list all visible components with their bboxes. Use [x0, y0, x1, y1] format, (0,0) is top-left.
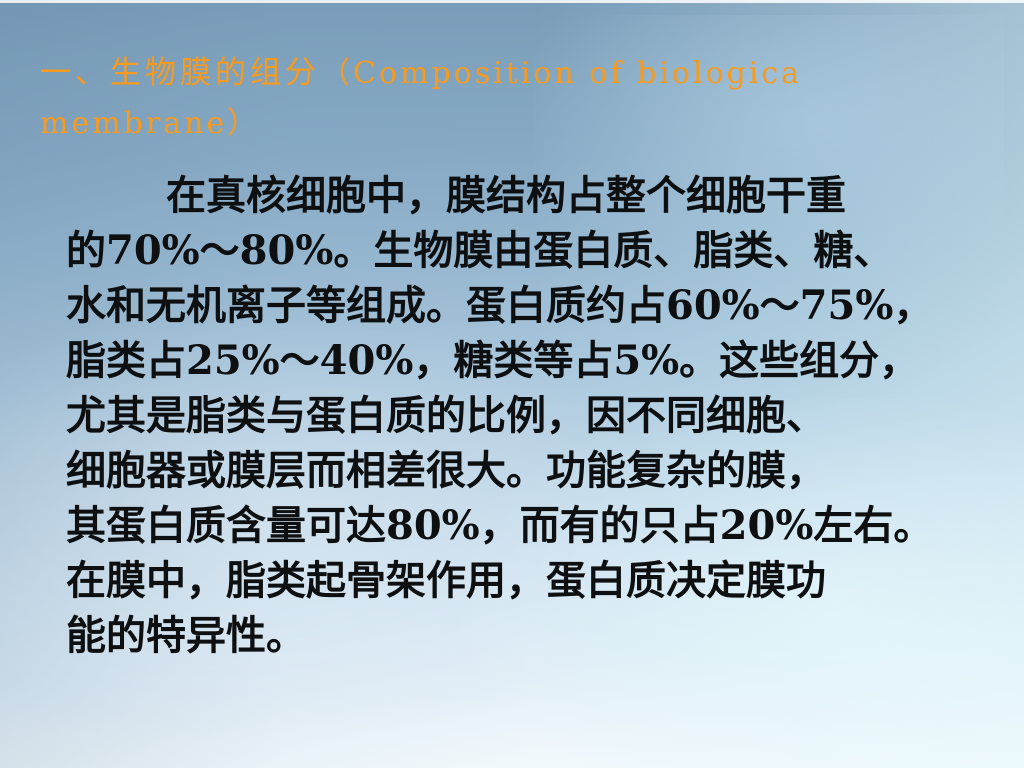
slide-title: 一、生物膜的组分（Composition of biologica membra… — [40, 50, 1024, 151]
body-text-line: 能的特异性。 — [66, 608, 986, 663]
body-text-line: 其蛋白质含量可达80%，而有的只占20%左右。 — [66, 498, 986, 553]
title-english-text-part1: （Composition of biologica — [320, 56, 802, 91]
slide-canvas: 一、生物膜的组分（Composition of biologica membra… — [0, 0, 1024, 768]
body-text-line: 在膜中，脂类起骨架作用，蛋白质决定膜功 — [66, 553, 986, 608]
body-text-line: 脂类占25%～40%，糖类等占5%。这些组分， — [66, 333, 986, 388]
body-text-line: 细胞器或膜层而相差很大。功能复杂的膜， — [66, 443, 986, 498]
body-text-line: 尤其是脂类与蛋白质的比例，因不同细胞、 — [66, 388, 986, 443]
body-paragraph: 在真核细胞中，膜结构占整个细胞干重 的70%～80%。生物膜由蛋白质、脂类、糖、… — [66, 168, 986, 663]
title-line-2: membrane） — [40, 101, 1024, 151]
title-chinese-text: 一、生物膜的组分 — [40, 55, 320, 91]
body-text-line: 的70%～80%。生物膜由蛋白质、脂类、糖、 — [66, 223, 986, 278]
body-text-line: 在真核细胞中，膜结构占整个细胞干重 — [66, 168, 986, 223]
body-text-line: 水和无机离子等组成。蛋白质约占60%～75%， — [66, 278, 986, 333]
slide-content: 一、生物膜的组分（Composition of biologica membra… — [0, 0, 1024, 768]
title-english-text-part2: membrane） — [40, 106, 260, 141]
title-line-1: 一、生物膜的组分（Composition of biologica — [40, 50, 1024, 101]
